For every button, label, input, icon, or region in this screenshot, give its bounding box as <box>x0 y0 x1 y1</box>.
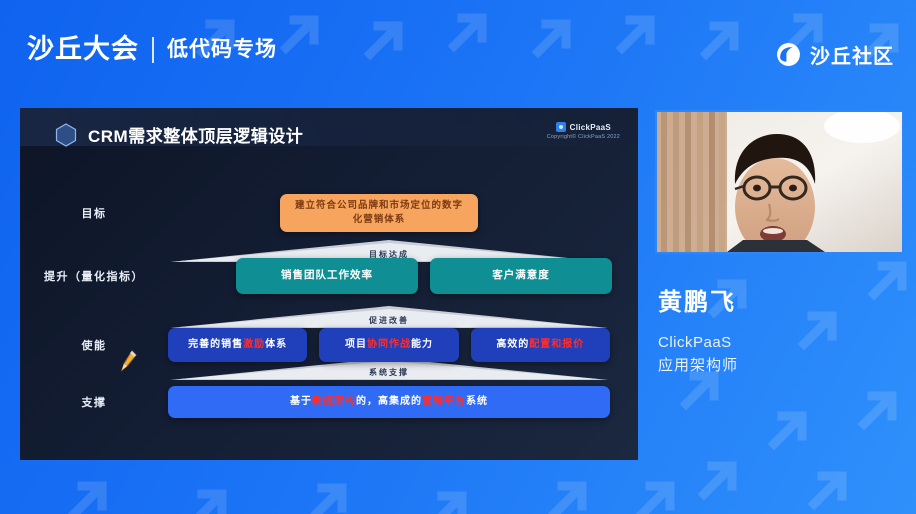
hexagon-icon <box>55 123 77 147</box>
diagram-row: 目标建立符合公司品牌和市场定位的数字化营销体系 <box>20 194 638 232</box>
box-text: 项目协同作战能力 <box>345 338 433 353</box>
presentation-stage: 沙丘大会 低代码专场 沙丘社区 CRM需求整体顶层逻辑设计 <box>0 0 916 514</box>
page-header: 沙丘大会 低代码专场 沙丘社区 <box>0 0 916 100</box>
pencil-cursor-icon <box>120 350 138 372</box>
brand-main-title: 沙丘大会 <box>27 36 139 63</box>
speaker-info: 黄鹏飞 ClickPaaS 应用架构师 <box>658 282 908 378</box>
diagram-box[interactable]: 高效的配置和报价 <box>471 328 610 362</box>
clickpaas-label: ClickPaaS <box>570 123 611 132</box>
row-label: 使能 <box>20 337 168 353</box>
row-label: 目标 <box>20 205 168 221</box>
box-text: 客户满意度 <box>492 268 550 283</box>
diagram-box[interactable]: 建立符合公司品牌和市场定位的数字化营销体系 <box>280 194 478 232</box>
box-text: 基于敏捷架构的，高集成的营销平台系统 <box>290 395 488 410</box>
arrow-watermark-icon <box>300 472 358 514</box>
speaker-org: ClickPaaS <box>658 331 908 354</box>
diagram-rows: 目标达成促进改善系统支撑目标建立符合公司品牌和市场定位的数字化营销体系提升（量化… <box>20 146 638 460</box>
arrow-watermark-icon <box>760 400 818 458</box>
row-boxes: 销售团队工作效率客户满意度 <box>168 258 638 294</box>
diagram-box[interactable]: 项目协同作战能力 <box>319 328 458 362</box>
community-brand: 沙丘社区 <box>776 40 894 69</box>
row-boxes: 建立符合公司品牌和市场定位的数字化营销体系 <box>168 194 638 232</box>
diagram-box[interactable]: 完善的销售激励体系 <box>168 328 307 362</box>
diagram-row: 使能完善的销售激励体系项目协同作战能力高效的配置和报价 <box>20 328 638 362</box>
speaker-role: 应用架构师 <box>658 354 908 377</box>
box-text: 建立符合公司品牌和市场定位的数字化营销体系 <box>290 199 468 227</box>
arrow-watermark-icon <box>800 460 858 514</box>
box-text: 高效的配置和报价 <box>496 338 584 353</box>
arrow-watermark-icon <box>420 480 478 514</box>
row-boxes: 基于敏捷架构的，高集成的营销平台系统 <box>168 386 638 418</box>
row-boxes: 完善的销售激励体系项目协同作战能力高效的配置和报价 <box>168 328 638 362</box>
brand-sub-title: 低代码专场 <box>167 39 277 60</box>
diagram-box[interactable]: 基于敏捷架构的，高集成的营销平台系统 <box>168 386 610 418</box>
clickpaas-logo-block: ClickPaaS Copyright© ClickPaaS 2022 <box>547 122 620 140</box>
arrow-watermark-icon <box>180 478 238 514</box>
box-text: 销售团队工作效率 <box>281 268 373 283</box>
connector-label: 系统支撑 <box>168 367 610 378</box>
arrow-watermark-icon <box>60 470 118 514</box>
event-brand: 沙丘大会 低代码专场 <box>27 36 277 63</box>
diagram-box[interactable]: 客户满意度 <box>430 258 612 294</box>
diagram-row: 提升（量化指标）销售团队工作效率客户满意度 <box>20 258 638 294</box>
slide-title-group: CRM需求整体顶层逻辑设计 <box>55 122 303 147</box>
s-circle-logo-icon <box>776 42 801 67</box>
arrow-watermark-icon <box>850 380 908 438</box>
speaker-name: 黄鹏飞 <box>658 282 908 317</box>
connector-triangle: 促进改善 <box>168 304 610 330</box>
copyright-text: Copyright© ClickPaaS 2022 <box>547 134 620 140</box>
arrow-watermark-icon <box>690 450 748 508</box>
row-label: 支撑 <box>20 394 168 410</box>
slide-panel[interactable]: CRM需求整体顶层逻辑设计 ClickPaaS Copyright© Click… <box>20 108 638 460</box>
clickpaas-mark-icon <box>556 122 566 132</box>
connector-label: 促进改善 <box>168 315 610 326</box>
brand-divider <box>152 37 154 63</box>
arrow-watermark-icon <box>540 470 598 514</box>
arrow-watermark-icon <box>628 470 686 514</box>
slide-title: CRM需求整体顶层逻辑设计 <box>88 122 303 147</box>
row-label: 提升（量化指标） <box>20 268 168 284</box>
community-brand-label: 沙丘社区 <box>810 40 894 69</box>
speaker-webcam[interactable] <box>655 110 904 254</box>
diagram-row: 支撑基于敏捷架构的，高集成的营销平台系统 <box>20 386 638 418</box>
diagram-box[interactable]: 销售团队工作效率 <box>236 258 418 294</box>
webcam-video-frame <box>657 112 902 252</box>
box-text: 完善的销售激励体系 <box>188 338 287 353</box>
